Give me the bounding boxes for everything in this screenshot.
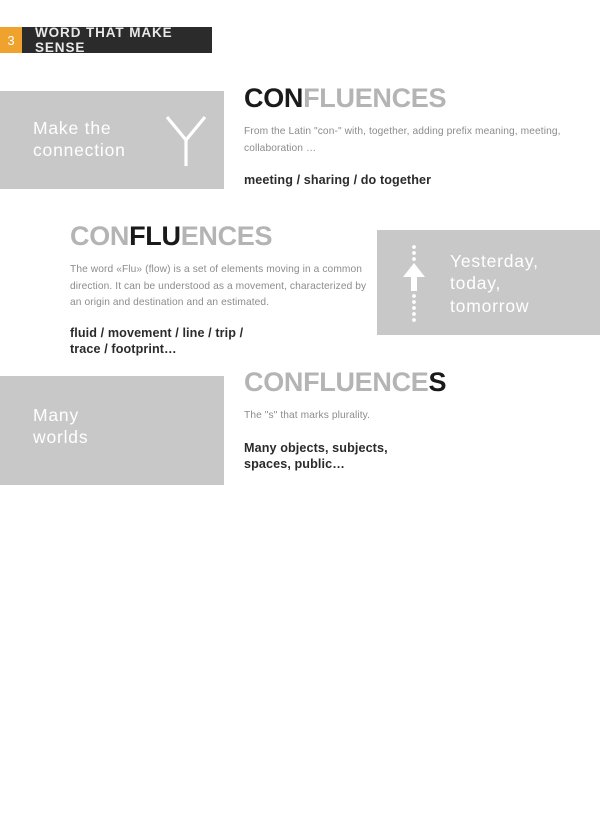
dot-grid-cell	[165, 798, 169, 802]
dot-grid-cell	[201, 804, 205, 808]
dot-grid-cell	[195, 786, 199, 790]
panel-label-line-1: Make the	[33, 117, 126, 139]
dot-grid-cell	[189, 804, 193, 808]
dot-grid-cell	[195, 768, 199, 772]
dot-grid-cell	[147, 774, 151, 778]
dot-grid-cell	[195, 798, 199, 802]
word-description-2: The word «Flu» (flow) is a set of elemen…	[70, 262, 380, 312]
dot-grid-cell	[135, 804, 139, 808]
dot-grid-cell	[141, 774, 145, 778]
word-block-confluences-s: CONFLUENCES The "s" that marks plurality…	[244, 369, 589, 473]
dot-grid-cell	[165, 810, 169, 814]
dot-grid-cell	[159, 774, 163, 778]
dot-grid-cell	[195, 804, 199, 808]
dot-grid-cell	[183, 804, 187, 808]
dot-grid-cell	[171, 816, 175, 820]
dot-grid-icon	[129, 768, 207, 834]
dot-grid-cell	[153, 798, 157, 802]
dot-grid-cell	[129, 774, 133, 778]
dot-grid-cell	[141, 786, 145, 790]
dot-grid-cell	[171, 798, 175, 802]
dot-grid-cell	[153, 816, 157, 820]
dot-grid-cell	[159, 816, 163, 820]
dot-grid-cell	[183, 816, 187, 820]
dot-grid-cell	[177, 792, 181, 796]
dot-grid-cell	[135, 792, 139, 796]
dot-grid-cell	[153, 828, 157, 832]
dot-grid-cell	[189, 816, 193, 820]
keywords-line-2: spaces, public…	[244, 457, 345, 471]
dot-grid-cell	[153, 792, 157, 796]
dot-grid-cell	[171, 768, 175, 772]
panel-label-line-1: Many	[33, 404, 88, 426]
slide-header: 3 WORD THAT MAKE SENSE	[0, 27, 212, 53]
word-part-prefix: CON	[70, 221, 129, 251]
dot-grid-cell	[183, 774, 187, 778]
word-part-highlight: S	[429, 367, 447, 397]
dot-grid-cell	[141, 822, 145, 826]
spacer	[244, 425, 589, 440]
dot-grid-cell	[141, 810, 145, 814]
dot-grid-cell	[159, 828, 163, 832]
dot-grid-cell	[183, 828, 187, 832]
dot-grid-cell	[171, 786, 175, 790]
dot-grid-cell	[189, 822, 193, 826]
dot-grid-cell	[159, 804, 163, 808]
dot-grid-cell	[171, 828, 175, 832]
dot-grid-cell	[201, 792, 205, 796]
dot-grid-cell	[135, 816, 139, 820]
dot-grid-cell	[159, 768, 163, 772]
dot-grid-cell	[201, 816, 205, 820]
dot-grid-cell	[189, 786, 193, 790]
word-part-dim: CONFLUENCE	[244, 367, 429, 397]
dot-grid-row	[129, 828, 207, 834]
dot-grid-cell	[165, 804, 169, 808]
dot-grid-cell	[183, 786, 187, 790]
dot-grid-cell	[195, 816, 199, 820]
panel-yesterday-today-tomorrow: Yesterday, today, tomorrow	[377, 230, 600, 335]
dot-grid-cell	[189, 774, 193, 778]
dot-grid-cell	[201, 828, 205, 832]
y-branch-icon	[163, 113, 209, 174]
panel-label-line-2: today,	[450, 272, 539, 294]
dot-grid-cell	[183, 798, 187, 802]
dot-grid-cell	[201, 822, 205, 826]
dot-grid-cell	[153, 780, 157, 784]
dot-grid-cell	[129, 786, 133, 790]
dot-grid-cell	[135, 780, 139, 784]
word-headline-1: CONFLUENCES	[244, 85, 589, 112]
slide-canvas: 3 WORD THAT MAKE SENSE Make the connecti…	[0, 0, 600, 509]
spacer	[244, 157, 589, 172]
dot-grid-cell	[189, 780, 193, 784]
word-part-dim: FLUENCES	[303, 83, 446, 113]
dot-grid-cell	[177, 816, 181, 820]
dot-grid-cell	[129, 816, 133, 820]
dot-grid-cell	[183, 792, 187, 796]
dot-grid-cell	[183, 810, 187, 814]
dot-grid-cell	[147, 828, 151, 832]
dot-grid-cell	[159, 780, 163, 784]
dot-grid-cell	[159, 798, 163, 802]
dot-grid-cell	[141, 780, 145, 784]
dot-grid-cell	[195, 774, 199, 778]
dot-grid-cell	[147, 786, 151, 790]
dot-grid-cell	[177, 774, 181, 778]
panel-label-line-2: worlds	[33, 426, 88, 448]
dot-grid-cell	[189, 792, 193, 796]
slide-title: WORD THAT MAKE SENSE	[22, 27, 212, 53]
dot-grid-cell	[165, 792, 169, 796]
dot-grid-cell	[141, 804, 145, 808]
dot-grid-cell	[129, 828, 133, 832]
dot-grid-cell	[135, 810, 139, 814]
dot-grid-cell	[165, 780, 169, 784]
keywords-line-1: Many objects, subjects,	[244, 441, 388, 455]
dot-grid-cell	[165, 828, 169, 832]
dot-grid-cell	[135, 822, 139, 826]
dot-grid-cell	[165, 816, 169, 820]
dot-grid-cell	[165, 786, 169, 790]
dot-grid-cell	[147, 804, 151, 808]
dot-grid-cell	[177, 786, 181, 790]
dot-grid-cell	[141, 768, 145, 772]
dot-grid-cell	[177, 768, 181, 772]
dot-grid-cell	[141, 798, 145, 802]
dot-grid-cell	[171, 780, 175, 784]
keywords-line-1: fluid / movement / line / trip /	[70, 326, 243, 340]
word-headline-3: CONFLUENCES	[244, 369, 589, 396]
word-part-suffix: ENCES	[181, 221, 273, 251]
spacer	[70, 312, 380, 325]
dot-grid-cell	[129, 780, 133, 784]
dot-grid-cell	[201, 810, 205, 814]
dot-grid-cell	[159, 786, 163, 790]
dot-grid-cell	[147, 780, 151, 784]
dot-grid-cell	[135, 828, 139, 832]
dot-grid-cell	[177, 822, 181, 826]
dot-grid-cell	[153, 804, 157, 808]
dot-grid-cell	[153, 774, 157, 778]
dot-grid-cell	[147, 798, 151, 802]
dot-grid-cell	[129, 804, 133, 808]
dotted-up-arrow-icon	[401, 244, 427, 329]
panel-label-line-1: Yesterday,	[450, 250, 539, 272]
dot-grid-cell	[147, 792, 151, 796]
panel-label-many: Many worlds	[33, 404, 88, 449]
word-part-highlight: FLU	[129, 221, 181, 251]
dot-grid-cell	[165, 774, 169, 778]
dot-grid-cell	[129, 810, 133, 814]
dot-grid-cell	[129, 792, 133, 796]
dot-grid-cell	[141, 828, 145, 832]
dot-grid-cell	[153, 786, 157, 790]
dot-grid-cell	[195, 810, 199, 814]
bottom-divider	[0, 481, 224, 485]
dot-grid-cell	[201, 780, 205, 784]
dot-grid-cell	[147, 816, 151, 820]
dot-grid-cell	[135, 798, 139, 802]
panel-make-the-connection: Make the connection	[0, 91, 224, 189]
word-description-3: The "s" that marks plurality.	[244, 408, 574, 425]
dot-grid-cell	[171, 792, 175, 796]
slide-number-badge: 3	[0, 27, 22, 53]
dot-grid-cell	[195, 822, 199, 826]
dot-grid-cell	[153, 822, 157, 826]
dot-grid-cell	[195, 792, 199, 796]
dot-grid-cell	[195, 780, 199, 784]
dot-grid-cell	[171, 810, 175, 814]
dot-grid-cell	[177, 798, 181, 802]
word-keywords-3: Many objects, subjects, spaces, public…	[244, 440, 589, 473]
word-headline-2: CONFLUENCES	[70, 223, 380, 250]
panel-label-connection: Make the connection	[33, 117, 126, 162]
dot-grid-cell	[171, 822, 175, 826]
dot-grid-cell	[189, 828, 193, 832]
dot-grid-cell	[189, 798, 193, 802]
dot-grid-cell	[159, 792, 163, 796]
word-keywords-1: meeting / sharing / do together	[244, 172, 589, 189]
dot-grid-cell	[177, 810, 181, 814]
dot-grid-cell	[177, 804, 181, 808]
dot-grid-cell	[159, 822, 163, 826]
dot-grid-cell	[135, 774, 139, 778]
dot-grid-cell	[177, 828, 181, 832]
dot-grid-cell	[147, 768, 151, 772]
dot-grid-cell	[147, 810, 151, 814]
dot-grid-cell	[183, 780, 187, 784]
word-block-confluences-con: CONFLUENCES From the Latin "con-" with, …	[244, 85, 589, 189]
dot-grid-cell	[141, 792, 145, 796]
panel-many-worlds: Many worlds	[0, 376, 224, 481]
dot-grid-cell	[129, 822, 133, 826]
dot-grid-cell	[129, 798, 133, 802]
word-part-highlight: CON	[244, 83, 303, 113]
dot-grid-cell	[171, 804, 175, 808]
word-block-confluences-flu: CONFLUENCES The word «Flu» (flow) is a s…	[70, 223, 380, 358]
keywords-line-2: trace / footprint…	[70, 342, 177, 356]
dot-grid-cell	[135, 768, 139, 772]
dot-grid-cell	[147, 822, 151, 826]
dot-grid-cell	[129, 768, 133, 772]
panel-label-line-3: tomorrow	[450, 295, 539, 317]
dot-grid-cell	[201, 774, 205, 778]
word-keywords-2: fluid / movement / line / trip / trace /…	[70, 325, 380, 358]
word-description-1: From the Latin "con-" with, together, ad…	[244, 124, 574, 157]
dot-grid-cell	[189, 810, 193, 814]
dot-grid-cell	[153, 810, 157, 814]
dot-grid-cell	[189, 768, 193, 772]
dot-grid-cell	[201, 798, 205, 802]
panel-label-line-2: connection	[33, 139, 126, 161]
dot-grid-cell	[183, 822, 187, 826]
dot-grid-cell	[195, 828, 199, 832]
dot-grid-cell	[177, 780, 181, 784]
dot-grid-cell	[201, 786, 205, 790]
panel-label-time: Yesterday, today, tomorrow	[450, 250, 539, 317]
dot-grid-cell	[159, 810, 163, 814]
dot-grid-cell	[171, 774, 175, 778]
dot-grid-cell	[165, 768, 169, 772]
dot-grid-cell	[153, 768, 157, 772]
dot-grid-cell	[183, 768, 187, 772]
dot-grid-cell	[201, 768, 205, 772]
dot-grid-cell	[141, 816, 145, 820]
dot-grid-cell	[165, 822, 169, 826]
dot-grid-cell	[135, 786, 139, 790]
